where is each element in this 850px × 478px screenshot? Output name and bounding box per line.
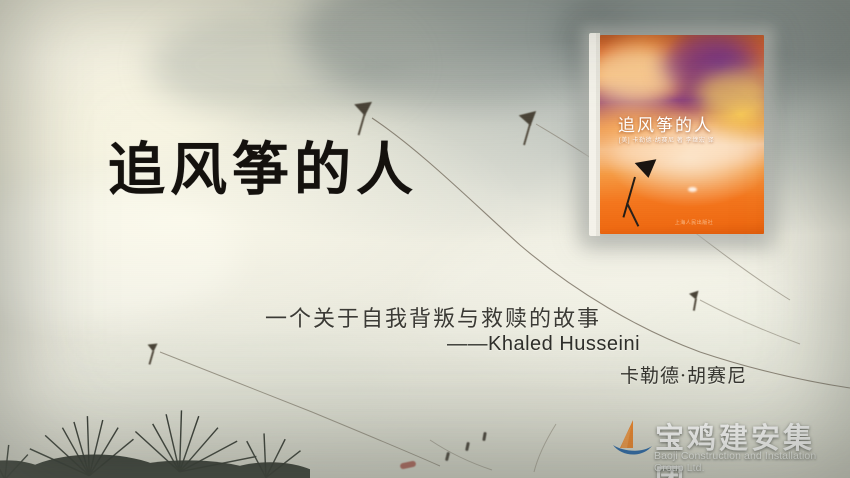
video-frame: 追风筝的人 一个关于自我背叛与救赎的故事 ——Khaled Husseini 卡…: [0, 0, 850, 478]
vignette: [0, 0, 850, 478]
